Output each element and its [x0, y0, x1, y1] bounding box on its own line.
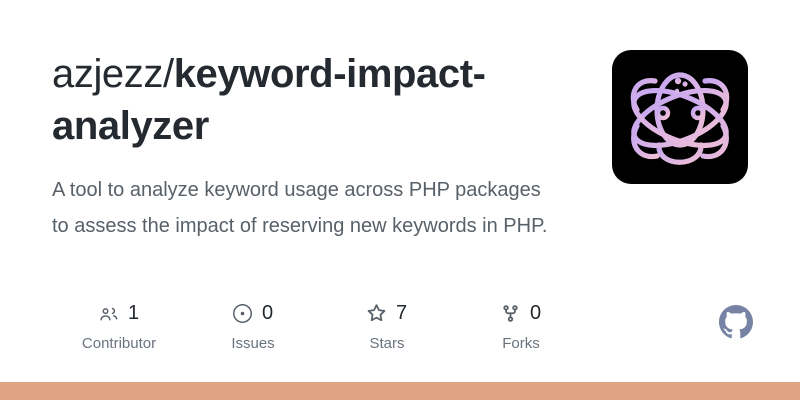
stat-label: Contributor: [82, 336, 156, 352]
stat-label: Forks: [502, 336, 540, 352]
stat-value: 7: [396, 303, 407, 323]
stat-top: 1: [99, 300, 139, 326]
repository-social-card: azjezz/keyword-impact-analyzer A tool to…: [0, 0, 800, 400]
people-icon: [99, 303, 119, 323]
page-title: azjezz/keyword-impact-analyzer: [52, 48, 562, 152]
repo-forked-icon: [501, 303, 521, 323]
stat-contributors: 1 Contributor: [52, 300, 186, 352]
repo-description: A tool to analyze keyword usage across P…: [52, 172, 552, 244]
github-logo-icon: [719, 305, 753, 339]
repo-name-separator: /: [163, 52, 174, 96]
atom-orbital-icon: [612, 50, 748, 184]
repo-owner: azjezz: [52, 52, 163, 96]
stat-stars: 7 Stars: [320, 300, 454, 352]
repo-stats: 1 Contributor 0 Issues: [52, 300, 588, 352]
avatar: [612, 50, 748, 184]
stat-top: 0: [233, 300, 273, 326]
stat-value: 0: [530, 303, 541, 323]
issue-opened-icon: [233, 303, 253, 323]
star-icon: [367, 303, 387, 323]
stat-value: 1: [128, 303, 139, 323]
stat-label: Issues: [231, 336, 274, 352]
stat-value: 0: [262, 303, 273, 323]
stat-forks: 0 Forks: [454, 300, 588, 352]
stat-issues: 0 Issues: [186, 300, 320, 352]
accent-bar: [0, 382, 800, 400]
stat-top: 7: [367, 300, 407, 326]
stat-label: Stars: [369, 336, 404, 352]
stat-top: 0: [501, 300, 541, 326]
